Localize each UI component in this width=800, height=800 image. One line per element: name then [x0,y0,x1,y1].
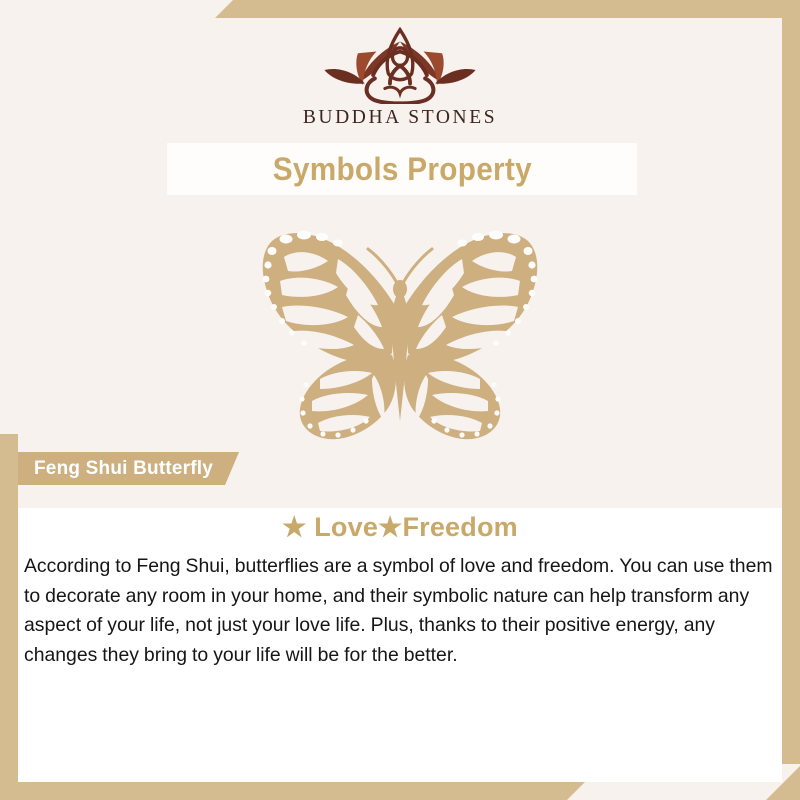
page-title: Symbols Property [272,151,531,188]
banner-label: Feng Shui Butterfly [34,458,213,480]
feng-shui-butterfly-banner: Feng Shui Butterfly [18,452,239,485]
frame-band-bottom [0,782,585,800]
frame-band-left [0,434,18,800]
frame-corner-bottom-left [0,782,18,800]
frame-corner-top-right [782,0,800,18]
content-subheading: ★ Love★Freedom [18,512,782,543]
butterfly-icon [220,215,580,445]
content-paragraph: According to Feng Shui, butterflies are … [24,552,777,670]
brand-header: BUDDHA STONES [0,18,800,140]
title-plaque: Symbols Property [167,143,637,195]
brand-wordmark: BUDDHA STONES [303,107,497,129]
content-panel: ★ Love★Freedom According to Feng Shui, b… [18,508,782,782]
frame-band-top [215,0,800,18]
infographic-page: BUDDHA STONES Symbols Property [0,0,800,800]
hero-illustration [0,205,800,455]
lotus-meditation-figure-icon [316,26,484,104]
